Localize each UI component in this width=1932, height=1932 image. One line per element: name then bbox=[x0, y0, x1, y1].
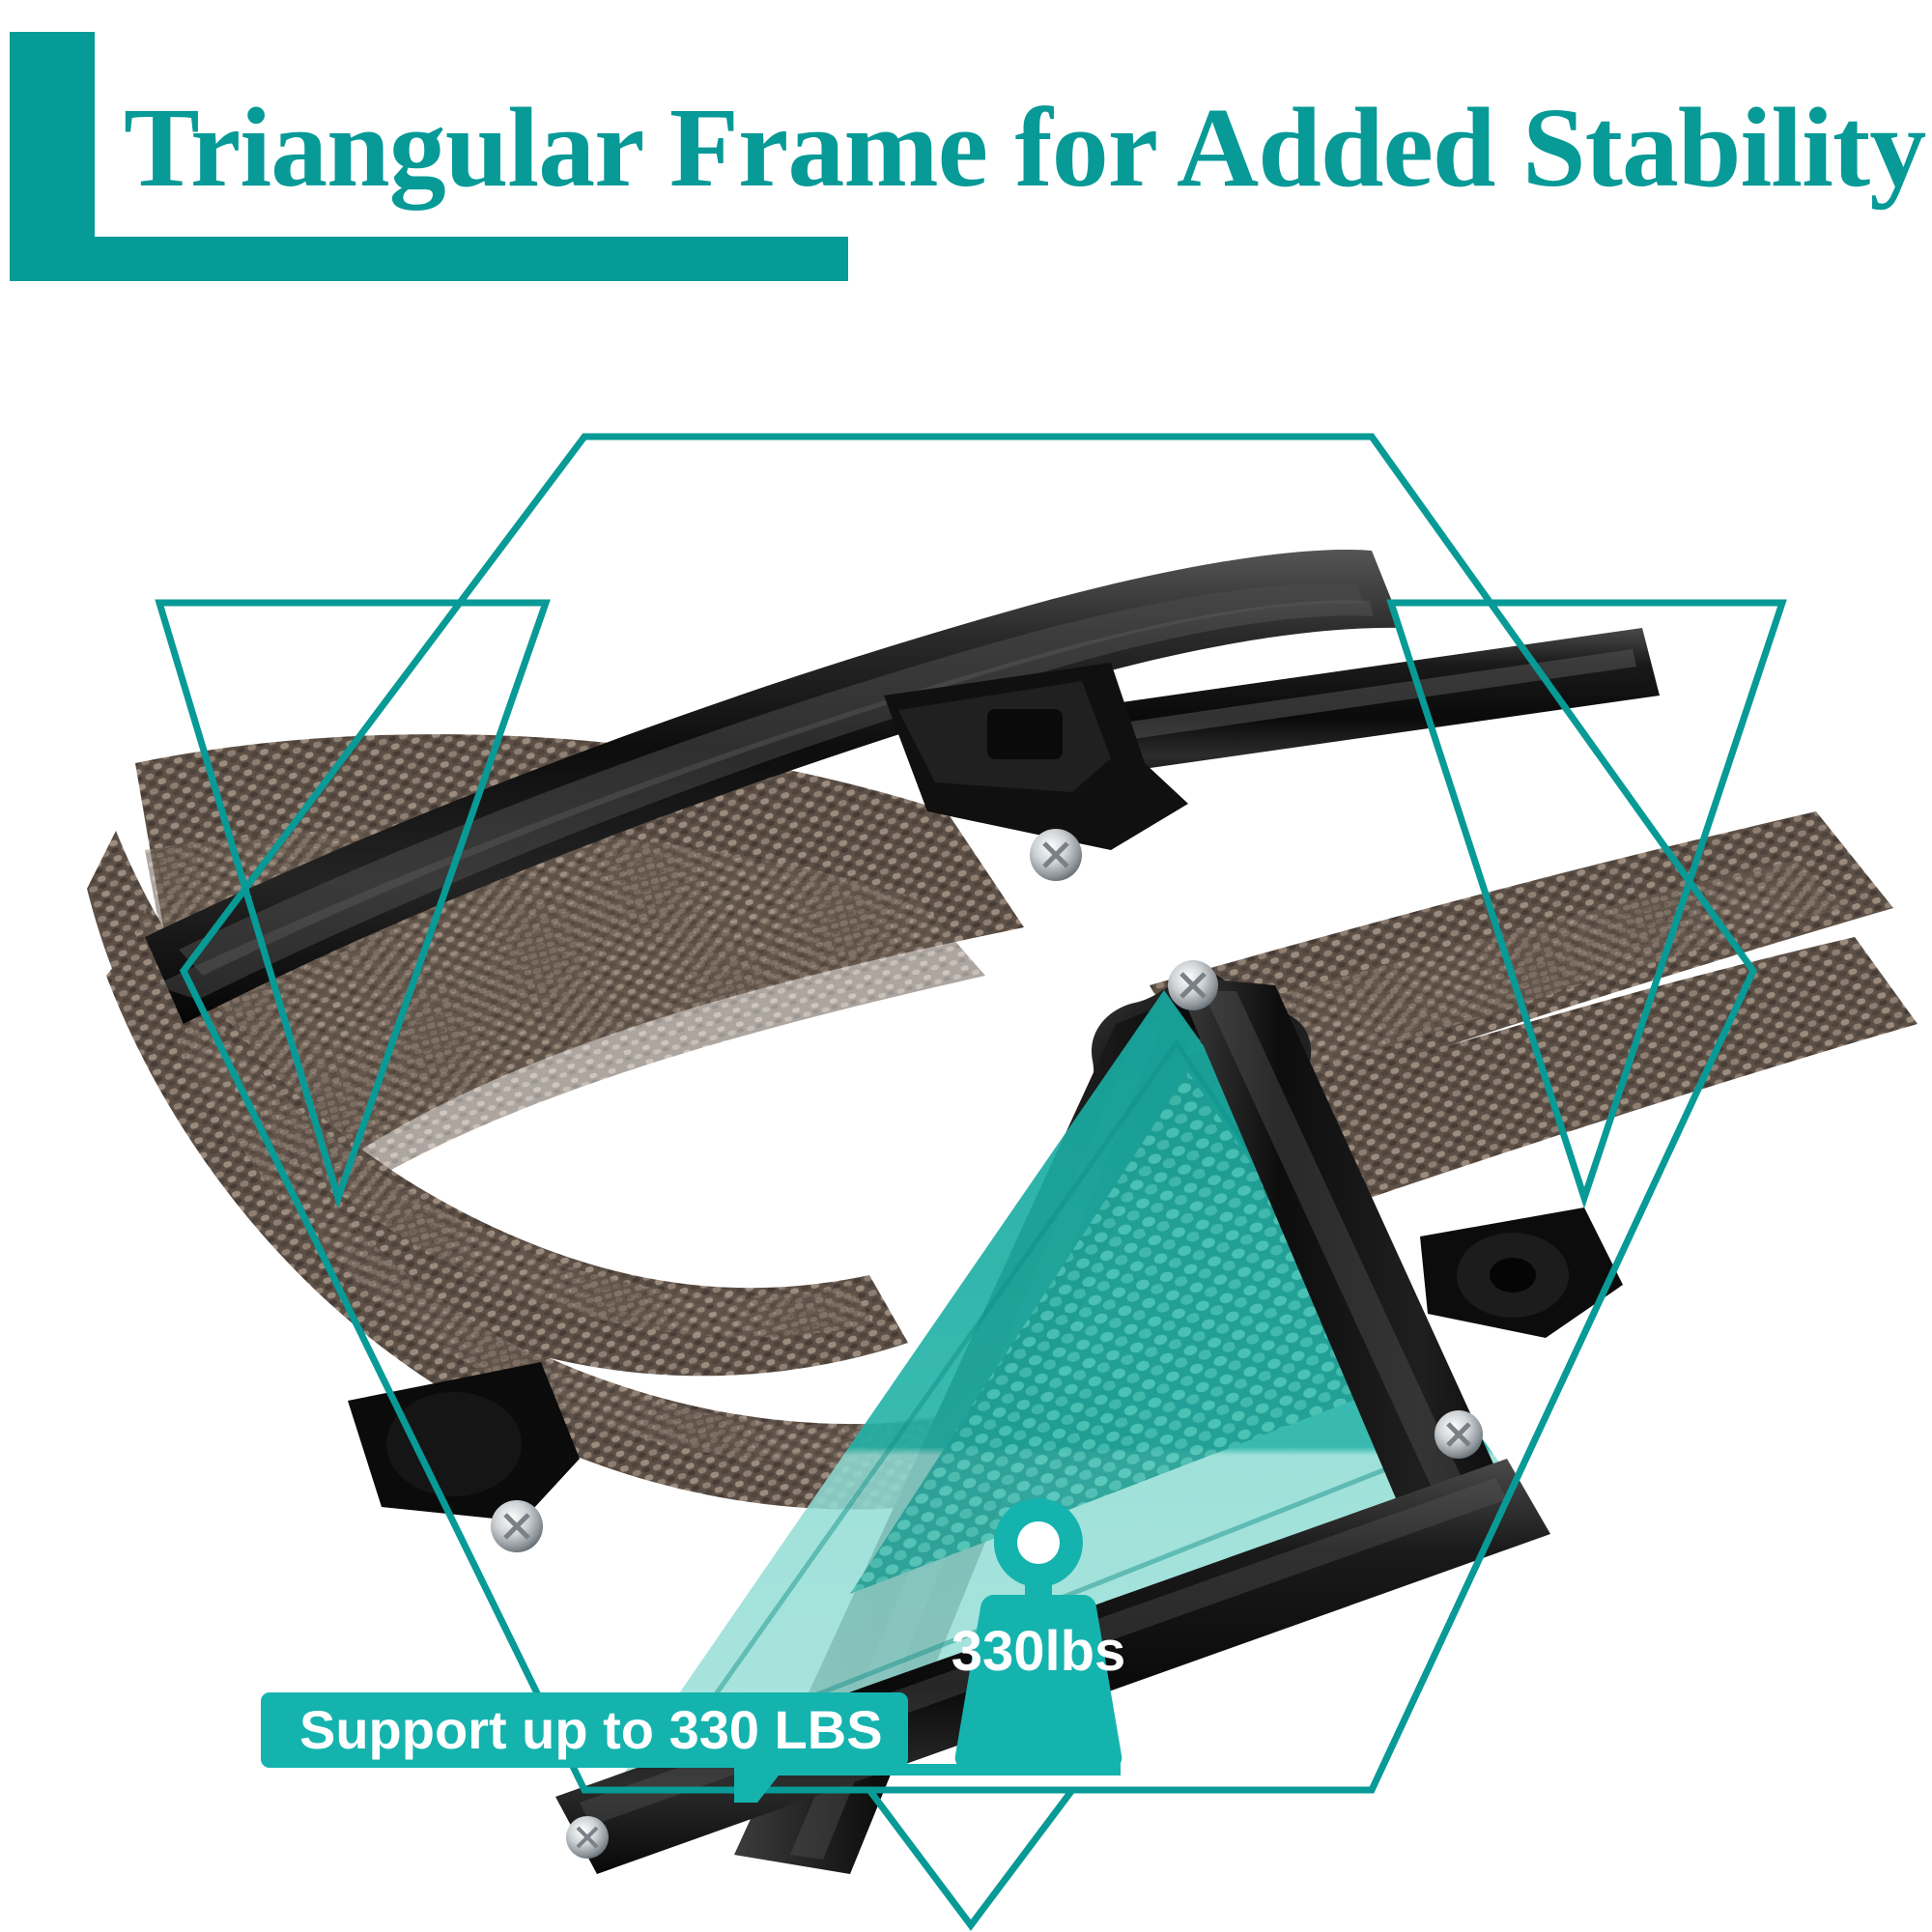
header-accent-horizontal-bar bbox=[10, 237, 848, 281]
page-title: Triangular Frame for Added Stability bbox=[124, 75, 1932, 220]
screw-top-right bbox=[1168, 960, 1218, 1010]
screw-bottom-right bbox=[1435, 1410, 1483, 1459]
product-feature-image: Triangular Frame for Added Stability bbox=[0, 0, 1932, 1932]
screw-bottom-left bbox=[491, 1500, 543, 1552]
support-banner-label: Support up to 330 LBS bbox=[299, 1697, 918, 1763]
screw-knob-left bbox=[1030, 829, 1082, 881]
screw-mid-left bbox=[566, 1816, 609, 1859]
weight-badge-value: 330lbs bbox=[932, 1618, 1145, 1686]
